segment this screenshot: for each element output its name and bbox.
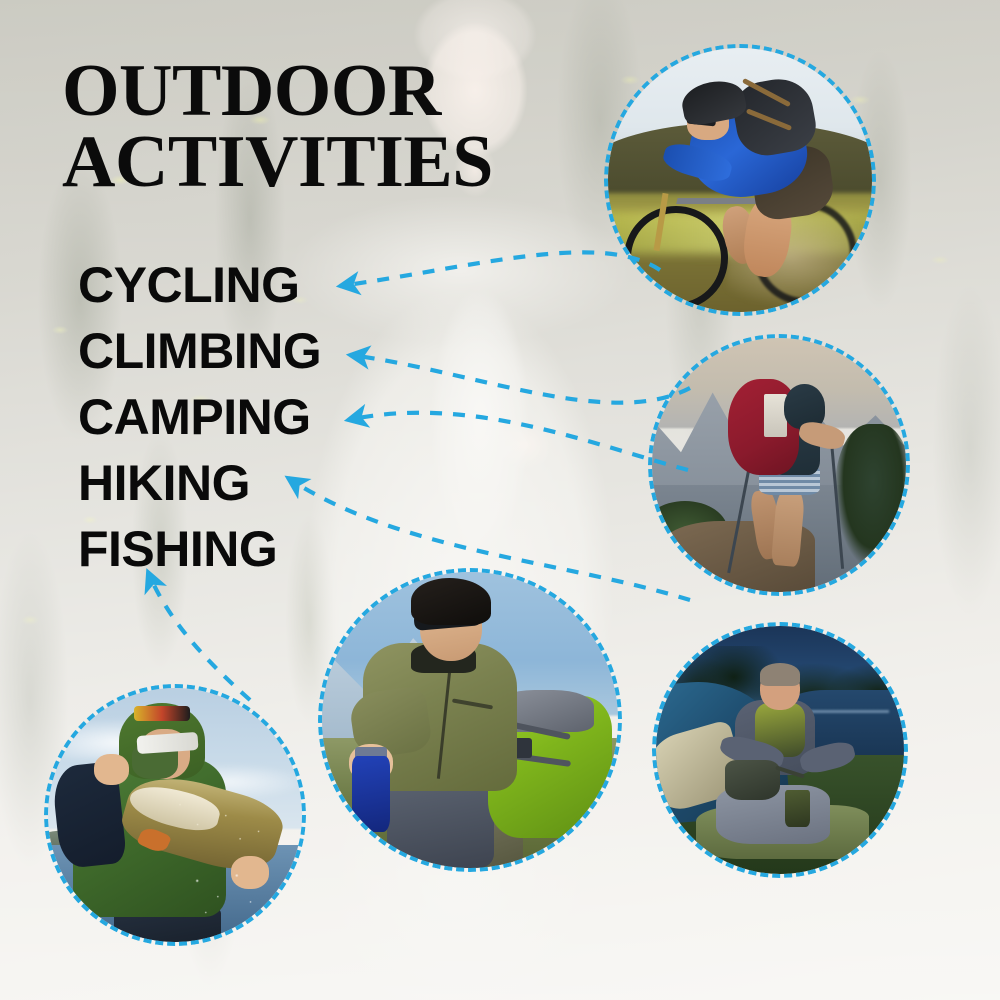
photo-center-model [318,568,622,872]
activity-list: CYCLING CLIMBING CAMPING HIKING FISHING [78,252,408,582]
photo-center-model-dashed-ring [318,568,622,872]
title-line-2: ACTIVITIES [62,127,622,198]
title-line-1: OUTDOOR [62,56,622,127]
page-title: OUTDOOR ACTIVITIES [62,56,622,198]
photo-camping [652,622,908,878]
photo-hiking-dashed-ring [648,334,910,596]
activity-item-climbing: CLIMBING [78,318,408,384]
activity-item-camping: CAMPING [78,384,408,450]
activity-item-hiking: HIKING [78,450,408,516]
photo-fishing-dashed-ring [44,684,306,946]
photo-hiking [648,334,910,596]
photo-cycling-dashed-ring [604,44,876,316]
photo-camping-dashed-ring [652,622,908,878]
outdoor-activities-poster: OUTDOOR ACTIVITIES CYCLING CLIMBING CAMP… [0,0,1000,1000]
activity-item-cycling: CYCLING [78,252,408,318]
photo-cycling [604,44,876,316]
photo-fishing [44,684,306,946]
